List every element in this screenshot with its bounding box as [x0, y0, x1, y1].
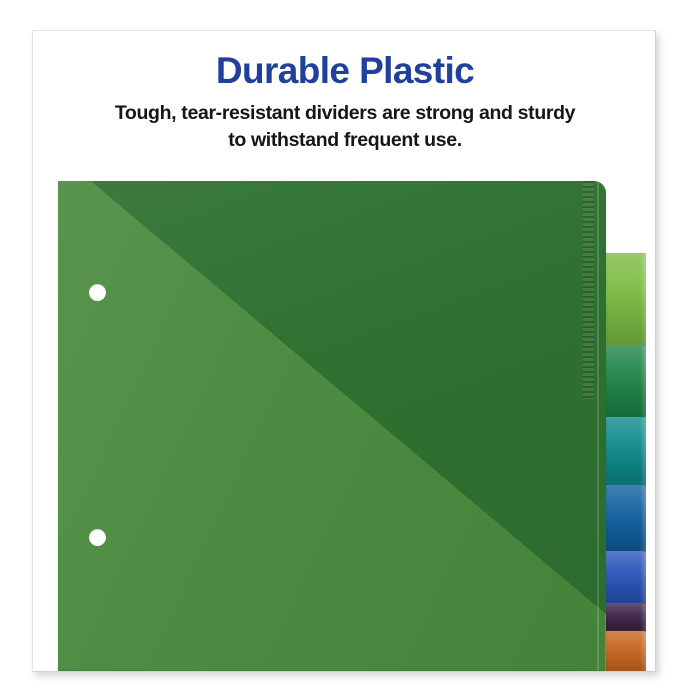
product-photo: [33, 31, 656, 672]
tab-royal-blue: [600, 551, 646, 604]
right-edge-crease: [597, 181, 599, 672]
divider-sheet: [58, 181, 606, 672]
tab-green: [600, 345, 646, 418]
divider-tab-stack: [600, 223, 646, 672]
top-punch-hole: [89, 284, 106, 301]
pocket-bottom-edge: [58, 670, 606, 672]
tab-blue: [600, 485, 646, 552]
product-card: Durable Plastic Tough, tear-resistant di…: [32, 30, 656, 672]
tab-purple: [600, 603, 646, 632]
ribbed-binding-strip: [583, 181, 594, 399]
bottom-punch-hole: [89, 529, 106, 546]
tab-light-green: [600, 253, 646, 346]
tab-orange: [600, 631, 646, 672]
product-image-canvas: Durable Plastic Tough, tear-resistant di…: [0, 0, 700, 700]
tab-teal: [600, 417, 646, 486]
